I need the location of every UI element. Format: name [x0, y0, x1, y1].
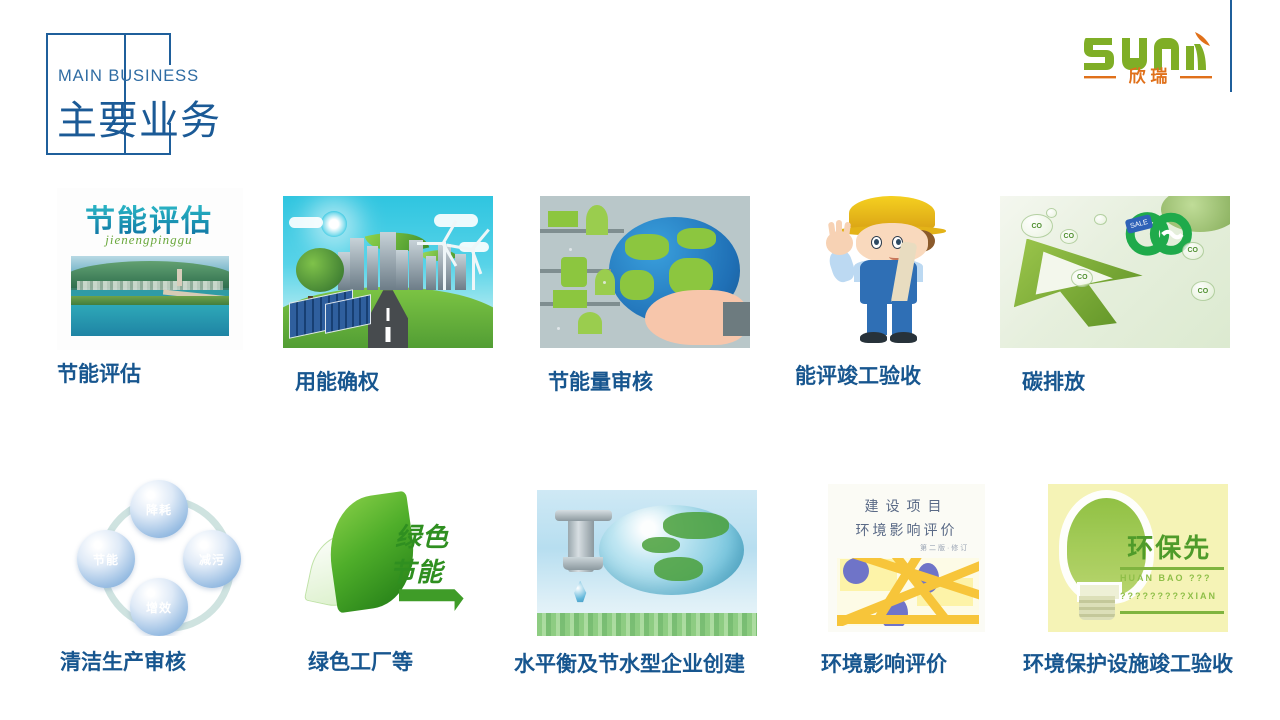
card-energy-saving-audit[interactable]: 节能量审核	[540, 196, 750, 396]
header-divider	[1230, 0, 1232, 92]
card-clean-production-audit[interactable]: 降耗 节能 减污 增效 清洁生产审核	[63, 478, 255, 684]
poster-pinyin-2: ?????????XIAN	[1120, 591, 1217, 601]
card-caption: 碳排放	[1022, 366, 1085, 396]
card-thumb: 环保先 HUAN BAO ??? ?????????XIAN	[1048, 484, 1228, 632]
card-energy-use-rights[interactable]: 用能确权	[283, 196, 493, 396]
card-thumb	[540, 196, 750, 348]
poster-pinyin: jienengpinggu	[63, 232, 235, 248]
card-thumb	[283, 196, 493, 348]
card-green-factory[interactable]: 绿色 节能 绿色工厂等	[300, 480, 490, 684]
card-environmental-impact-assessment[interactable]: 建设项目 环境影响评价 第二版·修订 环境影响评价	[828, 484, 985, 684]
title-frame-bottom-right	[126, 153, 171, 155]
sphere-node-bottom: 增效	[130, 578, 188, 636]
card-water-balance-enterprise[interactable]: 水平衡及节水型企业创建	[537, 490, 757, 684]
card-caption: 清洁生产审核	[60, 646, 186, 676]
sunri-logo-icon: 欣 瑞	[1078, 22, 1218, 84]
card-caption: 用能确权	[295, 366, 379, 396]
card-caption: 节能评估	[57, 358, 141, 388]
landscape-photo	[71, 256, 229, 336]
title-frame-top-right	[126, 33, 171, 35]
card-thumb: 绿色 节能	[300, 480, 490, 636]
card-caption: 环境影响评价	[821, 648, 947, 678]
card-thumb: 节能评估 jienengpinggu	[57, 188, 243, 350]
book-line3: 第二版·修订	[837, 543, 969, 553]
card-caption: 水平衡及节水型企业创建	[514, 648, 745, 678]
card-thumb: SALE CO CO CO CO CO	[1000, 196, 1230, 348]
page-eyebrow: MAIN BUSINESS	[58, 67, 199, 86]
card-thumb: 建设项目 环境影响评价 第二版·修订	[828, 484, 985, 632]
leaf-logo-line1: 绿色	[395, 517, 449, 554]
card-energy-saving-assessment[interactable]: 节能评估 jienengpinggu 节能评估	[57, 188, 243, 398]
sphere-node-top: 降耗	[130, 480, 188, 538]
svg-text:欣 瑞: 欣 瑞	[1129, 66, 1168, 84]
slide-root: MAIN BUSINESS 主要业务 欣 瑞 节能评估 jienengpingg…	[0, 0, 1280, 720]
poster-pinyin-1: HUAN BAO ???	[1120, 573, 1212, 583]
card-energy-assessment-acceptance[interactable]: 能评竣工验收	[795, 190, 975, 396]
card-thumb	[795, 190, 975, 348]
card-thumb: 降耗 节能 减污 增效	[63, 478, 255, 636]
card-caption: 能评竣工验收	[795, 360, 921, 390]
title-frame-right-upper	[169, 33, 171, 65]
page-title-block: MAIN BUSINESS 主要业务	[46, 30, 246, 160]
card-thumb	[537, 490, 757, 636]
card-environmental-facility-acceptance[interactable]: 环保先 HUAN BAO ??? ?????????XIAN 环境保护设施竣工验…	[1048, 484, 1228, 684]
company-logo: 欣 瑞	[1078, 22, 1218, 84]
card-caption: 绿色工厂等	[308, 646, 413, 676]
book-line1: 建设项目	[841, 496, 973, 516]
leaf-logo-line2: 节能	[389, 552, 443, 589]
poster-headline: 环保先	[1127, 528, 1211, 565]
book-line2: 环境影响评价	[837, 520, 975, 540]
card-carbon-emission[interactable]: SALE CO CO CO CO CO 碳排放	[1000, 196, 1230, 396]
page-title: 主要业务	[57, 88, 221, 146]
card-caption: 节能量审核	[548, 366, 653, 396]
sphere-node-right: 减污	[183, 530, 241, 588]
sphere-node-left: 节能	[77, 530, 135, 588]
card-caption: 环境保护设施竣工验收	[1023, 648, 1233, 678]
